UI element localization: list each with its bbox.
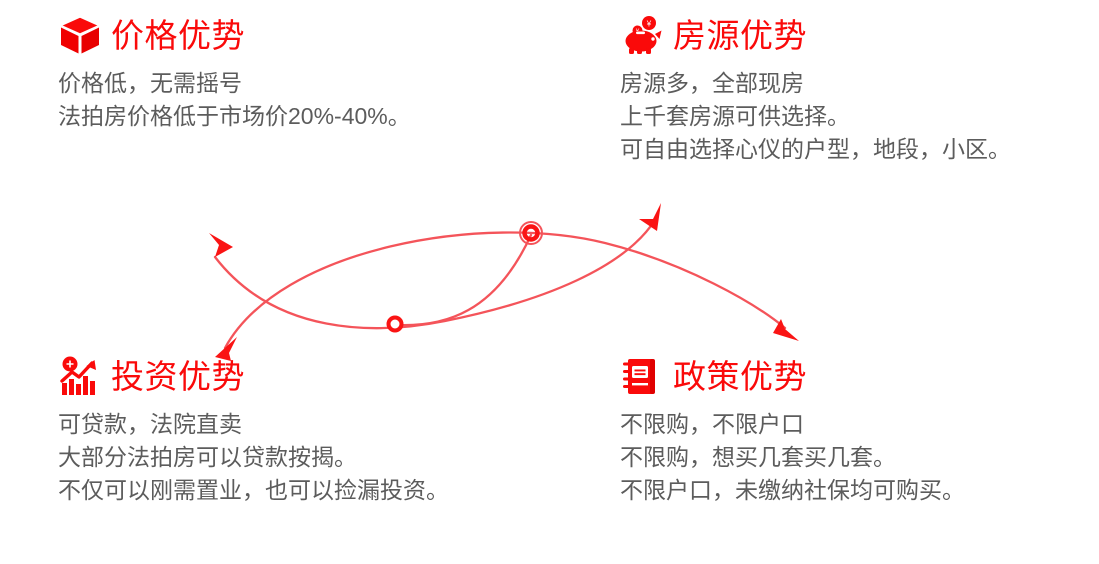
- piggy-bank-icon: ¥ ¥: [620, 14, 664, 56]
- feature-block-listing-advantage: ¥ ¥ 房源优势 房源多，全部现房 上千套房源可供选择。 可自由选择心仪的户型，…: [620, 12, 1011, 166]
- feature-title: 投资优势: [111, 360, 245, 393]
- feature-block-price-advantage: 价格优势 价格低，无需摇号 法拍房价格低于市场价20%-40%。: [58, 12, 411, 133]
- svg-text:¥: ¥: [646, 20, 652, 29]
- arc-inner: [396, 235, 531, 325]
- feature-line: 不仅可以刚需置业，也可以捡漏投资。: [58, 474, 449, 507]
- arc-lower: [215, 220, 655, 328]
- feature-line: 大部分法拍房可以贷款按揭。: [58, 441, 449, 474]
- feature-line: 不限户口，未缴纳社保均可购买。: [620, 474, 965, 507]
- feature-title: 价格优势: [111, 19, 245, 52]
- feature-line: 价格低，无需摇号: [58, 67, 411, 100]
- feature-title: 政策优势: [673, 360, 807, 393]
- infographic-canvas: 价格优势 价格低，无需摇号 法拍房价格低于市场价20%-40%。 ¥ ¥: [0, 0, 1099, 564]
- feature-block-policy-advantage: 政策优势 不限购，不限户口 不限购，想买几套买几套。 不限户口，未缴纳社保均可购…: [620, 353, 965, 507]
- node-marker-single-ring: [389, 318, 402, 331]
- arc-upper: [225, 232, 785, 348]
- growth-bar-chart-icon: [58, 355, 102, 397]
- feature-description: 价格低，无需摇号 法拍房价格低于市场价20%-40%。: [58, 67, 411, 133]
- notebook-icon: [620, 355, 664, 397]
- feature-line: 可贷款，法院直卖: [58, 408, 449, 441]
- feature-line: 房源多，全部现房: [620, 67, 1011, 100]
- feature-title: 房源优势: [673, 19, 807, 52]
- feature-line: 法拍房价格低于市场价20%-40%。: [58, 100, 411, 133]
- feature-line: 可自由选择心仪的户型，地段，小区。: [620, 133, 1011, 166]
- feature-line: 不限购，想买几套买几套。: [620, 441, 965, 474]
- feature-header: ¥ ¥ 房源优势: [620, 12, 1011, 58]
- feature-description: 房源多，全部现房 上千套房源可供选择。 可自由选择心仪的户型，地段，小区。: [620, 67, 1011, 166]
- feature-line: 上千套房源可供选择。: [620, 100, 1011, 133]
- arrow-head-up-left: [209, 233, 233, 257]
- feature-line: 不限购，不限户口: [620, 408, 965, 441]
- feature-header: 价格优势: [58, 12, 411, 58]
- arrow-head-down-left: [215, 337, 237, 361]
- feature-description: 可贷款，法院直卖 大部分法拍房可以贷款按揭。 不仅可以刚需置业，也可以捡漏投资。: [58, 408, 449, 507]
- feature-description: 不限购，不限户口 不限购，想买几套买几套。 不限户口，未缴纳社保均可购买。: [620, 408, 965, 507]
- crossed-arrows-decoration: [185, 185, 825, 360]
- red-3d-box-icon: [58, 14, 102, 56]
- feature-block-investment-advantage: 投资优势 可贷款，法院直卖 大部分法拍房可以贷款按揭。 不仅可以刚需置业，也可以…: [58, 353, 449, 507]
